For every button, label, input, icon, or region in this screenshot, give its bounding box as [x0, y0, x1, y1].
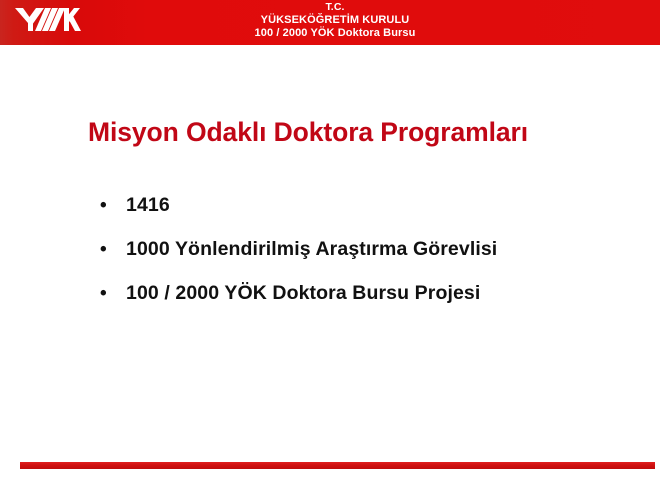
- bullet-marker-icon: •: [100, 196, 126, 215]
- yok-logo: [14, 4, 82, 42]
- header-title-block: T.C. YÜKSEKÖĞRETİM KURULU 100 / 2000 YÖK…: [120, 0, 550, 45]
- header-line-program: 100 / 2000 YÖK Doktora Bursu: [120, 28, 550, 39]
- slide: T.C. YÜKSEKÖĞRETİM KURULU 100 / 2000 YÖK…: [0, 0, 660, 495]
- list-item: • 1000 Yönlendirilmiş Araştırma Görevlis…: [100, 238, 640, 282]
- list-item: • 1416: [100, 194, 640, 238]
- header-line-tc: T.C.: [120, 2, 550, 13]
- list-item: • 100 / 2000 YÖK Doktora Bursu Projesi: [100, 282, 640, 326]
- bullet-marker-icon: •: [100, 240, 126, 259]
- page-title: Misyon Odaklı Doktora Programları: [88, 117, 608, 148]
- bullet-list: • 1416 • 1000 Yönlendirilmiş Araştırma G…: [100, 194, 640, 326]
- header-line-institution: YÜKSEKÖĞRETİM KURULU: [120, 15, 550, 26]
- header-band: T.C. YÜKSEKÖĞRETİM KURULU 100 / 2000 YÖK…: [0, 0, 660, 45]
- footer-divider: [20, 462, 655, 469]
- list-item-label: 1000 Yönlendirilmiş Araştırma Görevlisi: [126, 238, 497, 261]
- bullet-marker-icon: •: [100, 284, 126, 303]
- list-item-label: 1416: [126, 194, 170, 217]
- list-item-label: 100 / 2000 YÖK Doktora Bursu Projesi: [126, 282, 480, 305]
